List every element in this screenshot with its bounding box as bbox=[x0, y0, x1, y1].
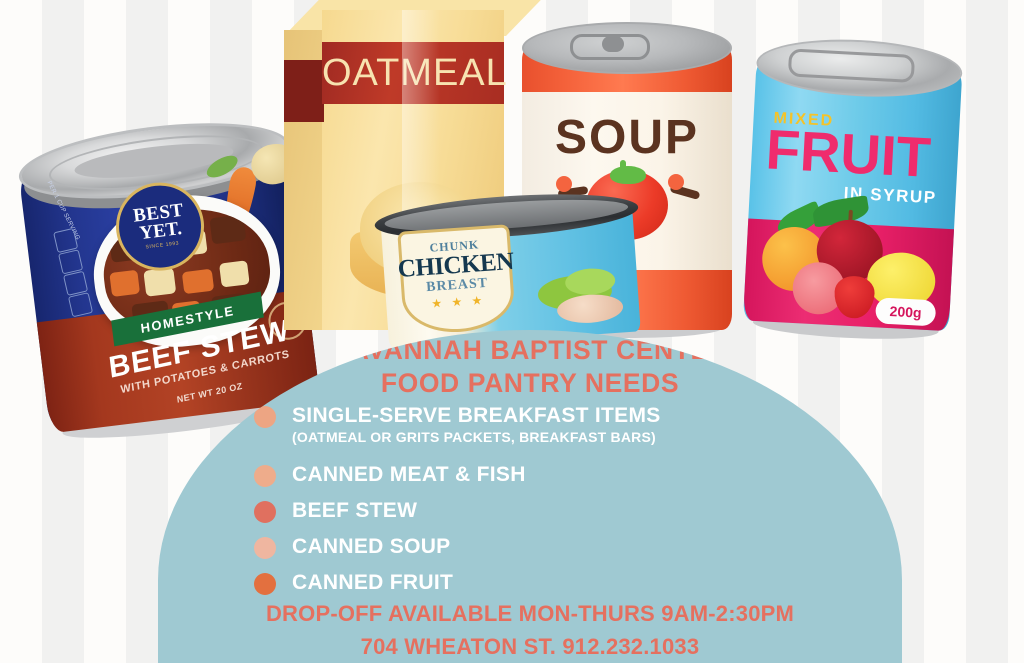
flyer-poster: PER 1 CUP SERVING BEST YET. SINCE bbox=[0, 0, 1024, 663]
list-item: SINGLE-SERVE BREAKFAST ITEMS (OATMEAL OR… bbox=[254, 404, 854, 445]
bullet-dot-icon bbox=[254, 537, 276, 559]
panel-footer: DROP-OFF AVAILABLE MON-THURS 9AM-2:30PM … bbox=[158, 597, 902, 663]
stew-potato bbox=[143, 267, 176, 296]
needs-list: SINGLE-SERVE BREAKFAST ITEMS (OATMEAL OR… bbox=[254, 404, 854, 597]
list-spacer bbox=[254, 447, 854, 463]
tomato-stem-icon bbox=[620, 160, 626, 172]
heading-line-2: FOOD PANTRY NEEDS bbox=[158, 367, 902, 400]
list-item-text: BEEF STEW bbox=[292, 499, 417, 523]
chicken-stars-icon: ★ ★ ★ bbox=[431, 293, 486, 311]
pull-tab-icon bbox=[602, 36, 624, 52]
footer-line-2: 704 WHEATON ST. 912.232.1033 bbox=[158, 630, 902, 663]
list-item: CANNED MEAT & FISH bbox=[254, 463, 854, 487]
footer-line-1: DROP-OFF AVAILABLE MON-THURS 9AM-2:30PM bbox=[158, 597, 902, 630]
fruit-can-image: MIXED FRUIT IN SYRUP 200g bbox=[728, 28, 980, 350]
info-panel: SAVANNAH BAPTIST CENTER FOOD PANTRY NEED… bbox=[158, 330, 902, 663]
list-item: BEEF STEW bbox=[254, 499, 854, 523]
stew-carrot bbox=[182, 269, 214, 294]
bullet-dot-icon bbox=[254, 573, 276, 595]
box-band-side bbox=[284, 60, 324, 122]
tomato-hand-right bbox=[668, 174, 684, 190]
chicken-can-image: CHUNK CHICKEN BREAST ★ ★ ★ bbox=[373, 183, 653, 351]
soup-title: SOUP bbox=[532, 110, 722, 165]
heading-line-1: SAVANNAH BAPTIST CENTER bbox=[158, 334, 902, 367]
bullet-dot-icon bbox=[254, 465, 276, 487]
stew-potato bbox=[219, 260, 250, 287]
list-item-label: CANNED SOUP bbox=[292, 535, 450, 559]
list-item-text: CANNED SOUP bbox=[292, 535, 450, 559]
list-item-label: CANNED FRUIT bbox=[292, 571, 453, 595]
fruit-weight-badge: 200g bbox=[875, 297, 936, 326]
list-item-label: SINGLE-SERVE BREAKFAST ITEMS bbox=[292, 404, 661, 428]
list-item-text: CANNED FRUIT bbox=[292, 571, 453, 595]
stew-carrot bbox=[109, 270, 140, 297]
panel-heading: SAVANNAH BAPTIST CENTER FOOD PANTRY NEED… bbox=[158, 334, 902, 400]
list-item-text: CANNED MEAT & FISH bbox=[292, 463, 526, 487]
list-item-label: BEEF STEW bbox=[292, 499, 417, 523]
list-item: CANNED SOUP bbox=[254, 535, 854, 559]
bullet-dot-icon bbox=[254, 406, 276, 428]
brand-line-2: YET. bbox=[138, 220, 182, 243]
bullet-dot-icon bbox=[254, 501, 276, 523]
list-item: CANNED FRUIT bbox=[254, 571, 854, 595]
stew-meat bbox=[209, 214, 246, 244]
fruit-title: FRUIT bbox=[764, 121, 932, 186]
list-item-label: CANNED MEAT & FISH bbox=[292, 463, 526, 487]
tomato-leaf-icon bbox=[610, 166, 646, 184]
list-item-text: SINGLE-SERVE BREAKFAST ITEMS (OATMEAL OR… bbox=[292, 404, 661, 445]
list-item-sublabel: (OATMEAL OR GRITS PACKETS, BREAKFAST BAR… bbox=[292, 429, 661, 445]
